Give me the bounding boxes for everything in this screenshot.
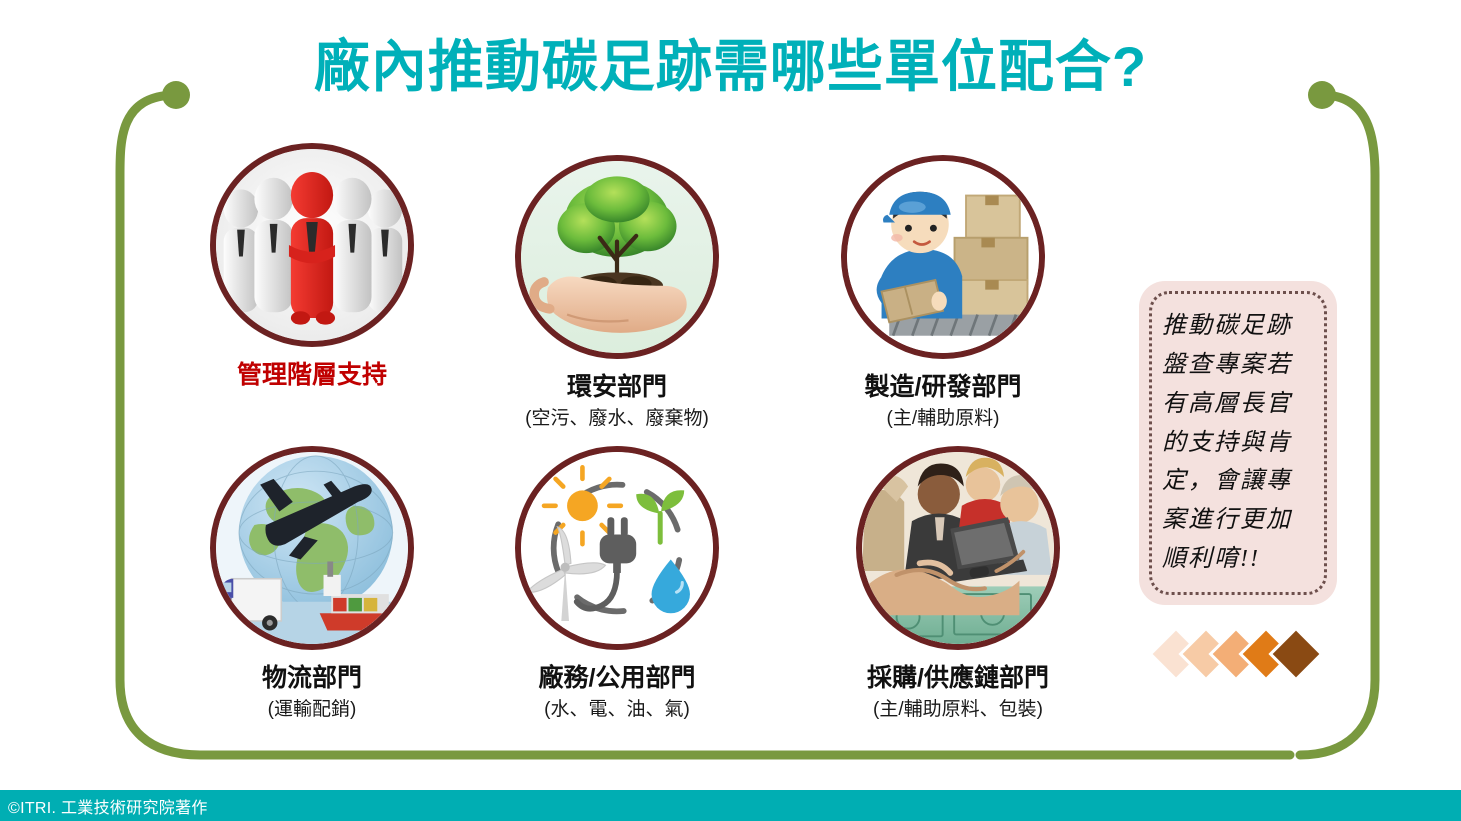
dept-icon-circle bbox=[210, 446, 414, 650]
dept-icon-circle bbox=[515, 446, 719, 650]
dept-label: 採購/供應鏈部門 bbox=[808, 664, 1108, 693]
dept-item-manufacturing-rd[interactable]: 製造/研發部門 (主/輔助原料) bbox=[793, 155, 1093, 431]
dept-label: 環安部門 bbox=[467, 373, 767, 402]
dept-item-management-support[interactable]: 管理階層支持 bbox=[162, 143, 462, 396]
dept-sublabel: (空污、廢水、廢棄物) bbox=[467, 408, 767, 431]
slide-canvas: 廠內推動碳足跡需哪些單位配合? bbox=[0, 0, 1461, 821]
dept-label: 製造/研發部門 bbox=[793, 373, 1093, 402]
dept-sublabel: (主/輔助原料、包裝) bbox=[808, 699, 1108, 722]
dept-item-facility-utility[interactable]: 廠務/公用部門 (水、電、油、氣) bbox=[467, 446, 767, 722]
business-leader-team-icon bbox=[216, 149, 408, 341]
callout-text: 推動碳足跡盤查專案若有高層長官的支持與肯定，會讓專案進行更加順利唷!! bbox=[1162, 307, 1314, 579]
callout-box: 推動碳足跡盤查專案若有高層長官的支持與肯定，會讓專案進行更加順利唷!! bbox=[1139, 281, 1337, 605]
callout-dotted-border: 推動碳足跡盤查專案若有高層長官的支持與肯定，會讓專案進行更加順利唷!! bbox=[1149, 291, 1327, 595]
dept-label: 廠務/公用部門 bbox=[467, 664, 767, 693]
dept-icon-circle bbox=[841, 155, 1045, 359]
dept-icon-circle bbox=[856, 446, 1060, 650]
dept-icon-circle bbox=[515, 155, 719, 359]
renewable-energy-plug-icon bbox=[521, 452, 713, 644]
dept-label: 管理階層支持 bbox=[162, 361, 462, 390]
dept-item-procurement-supplychain[interactable]: 採購/供應鏈部門 (主/輔助原料、包裝) bbox=[808, 446, 1108, 722]
handshake-business-deal-icon bbox=[862, 452, 1054, 644]
chevron-diamonds-decoration bbox=[1148, 618, 1348, 690]
dept-icon-circle bbox=[210, 143, 414, 347]
dept-sublabel: (主/輔助原料) bbox=[793, 408, 1093, 431]
dept-label: 物流部門 bbox=[162, 664, 462, 693]
page-title: 廠內推動碳足跡需哪些單位配合? bbox=[0, 38, 1461, 97]
dept-item-environment-safety[interactable]: 環安部門 (空污、廢水、廢棄物) bbox=[467, 155, 767, 431]
dept-sublabel: (運輸配銷) bbox=[162, 699, 462, 722]
hand-holding-tree-icon bbox=[521, 161, 713, 353]
factory-worker-boxes-icon bbox=[847, 161, 1039, 353]
globe-plane-truck-ship-icon bbox=[216, 452, 408, 644]
footer-bar: ©ITRI. 工業技術研究院著作 bbox=[0, 790, 1461, 821]
dept-sublabel: (水、電、油、氣) bbox=[467, 699, 767, 722]
dept-item-logistics[interactable]: 物流部門 (運輸配銷) bbox=[162, 446, 462, 722]
copyright-text: ©ITRI. 工業技術研究院著作 bbox=[8, 794, 208, 818]
